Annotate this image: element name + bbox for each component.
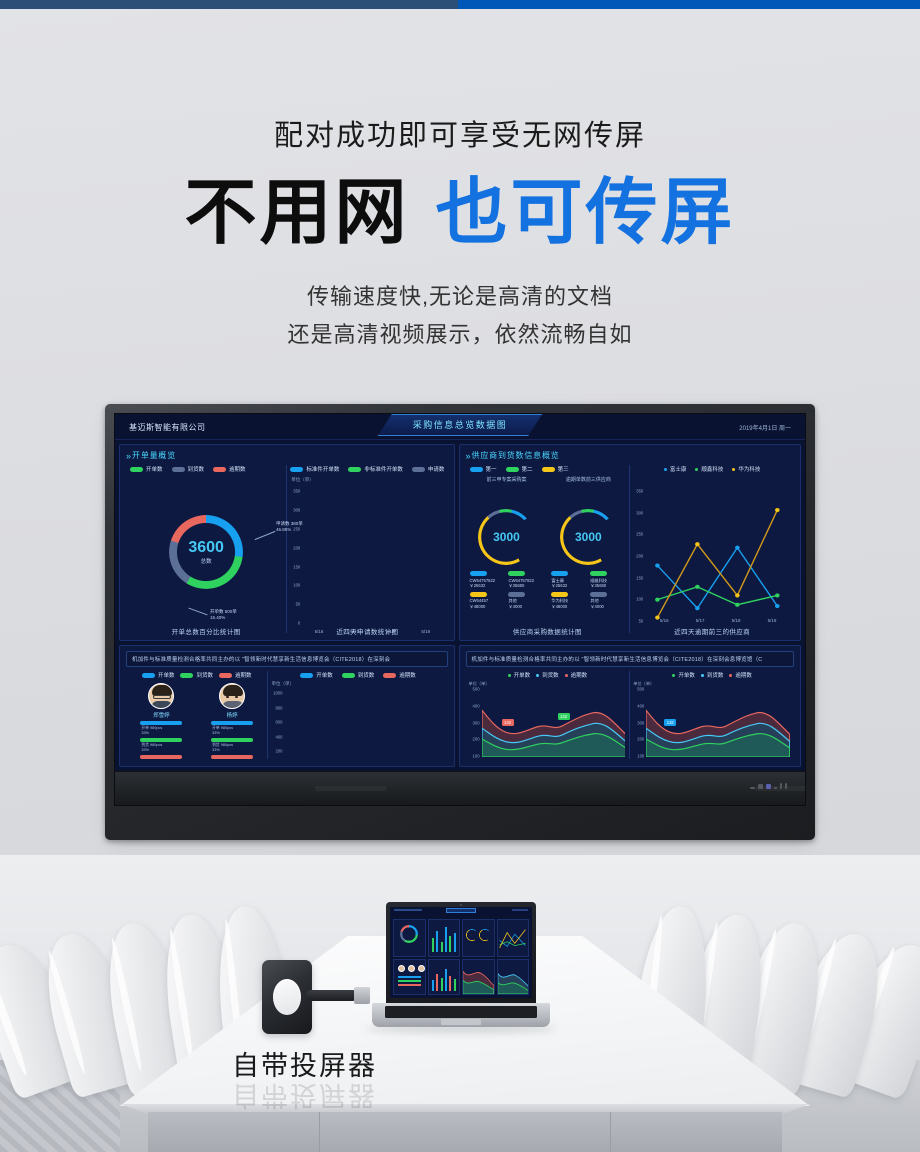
section-title-supplier: » 供应商到货数信息概览: [466, 450, 794, 461]
dongle-cable: [306, 990, 358, 1001]
y-axis-ticks: 1000800600 400200: [268, 693, 283, 759]
section-title-text: 供应商到货数信息概览: [472, 450, 560, 461]
legend-item: 到货数: [180, 671, 213, 679]
legend-item: 到货数: [172, 465, 205, 473]
chevron-right-icon: »: [466, 451, 468, 461]
legend-item: 第二: [506, 465, 533, 473]
legend-item: 到货数: [342, 671, 375, 679]
list-item: CW64757822￥35680: [508, 571, 543, 589]
legend-item: 逾期数: [729, 671, 752, 679]
avatar: [219, 683, 245, 709]
dashboard-date: 2019年4月1日 周一: [739, 423, 791, 432]
donut-callout-bottom: 开单数 500单 15.40%: [210, 609, 237, 621]
gauge-chart: 3000: [478, 509, 534, 565]
legend-item: 到货数: [701, 671, 724, 679]
gauge-chart: 3000: [560, 509, 616, 565]
area-annotation-tag: 132: [558, 713, 570, 720]
hero-headline: 不用网也可传屏: [0, 176, 920, 252]
legend-vendors: 富士康 顺鑫科技 华为科技: [630, 465, 794, 473]
hero-subtext: 传输速度快,无论是高清的文档 还是高清视频展示，依然流畅自如: [0, 278, 920, 355]
staff-split: 开单数 到货数 逾期数: [126, 667, 448, 763]
y-axis-ticks: 500400300 200100: [630, 689, 645, 759]
line-chart-area: 富士康 顺鑫科技 华为科技 350300250 200150100 50: [630, 461, 794, 637]
list-item: CW64757822￥25632: [470, 571, 505, 589]
legend-item: 开单数: [300, 671, 333, 679]
dongle-body: [262, 960, 312, 1034]
callout-leader-line: [255, 531, 276, 540]
list-item: 其他￥4000: [590, 592, 625, 610]
legend-stacked: 开单数 到货数 逾期数: [268, 671, 447, 679]
apply-chart-caption: 近四天申请数统计图: [287, 626, 447, 636]
section-title-text: 开单量概览: [132, 450, 176, 461]
dongle-caption-reflection: 自带投屏器: [232, 1078, 377, 1117]
y-axis-unit: 单位（单）: [291, 477, 314, 483]
area-plot: [482, 697, 626, 757]
avatar: [148, 683, 174, 709]
dashboard-left-column: » 开单量概览 开单数 到货数 逾期数: [119, 444, 455, 767]
legend-item: 非标准件开单数: [348, 465, 403, 473]
legend-item: 逾期数: [213, 465, 246, 473]
bar-group: [347, 491, 363, 623]
staff-metrics: 开单 980pcs33% 到货 980pcs33%: [140, 721, 182, 759]
dashboard-body: » 开单量概览 开单数 到货数 逾期数: [115, 440, 805, 771]
gauge-value: 3000: [478, 509, 534, 565]
dashboard: 基迈斯智能有限公司 采购信息总览数据图 2019年4月1日 周一 » 开单量概览: [115, 414, 805, 805]
legend-item: 申请数: [412, 465, 445, 473]
ticker-right: 机加件与标准质量检测合格率共同主办的以 "智领新时代慧享新生活信息博览会（CIT…: [466, 651, 794, 667]
laptop-lid: [386, 902, 536, 1005]
legend-item: 开单数: [672, 671, 695, 679]
legend-item: 到货数: [536, 671, 559, 679]
stacked-plot-area: [284, 693, 443, 759]
laptop-screen: [390, 907, 532, 998]
panel-supplier-overview: » 供应商到货数信息概览 第一 第二 第三: [459, 444, 801, 641]
hero-kicker: 配对成功即可享受无网传屏: [0, 112, 920, 154]
legend-order: 开单数 到货数 逾期数: [130, 465, 286, 473]
gauge-heading: 逾期单数前三供应商: [547, 476, 629, 483]
area-annotation-tag: 132: [502, 719, 514, 726]
laptop: [372, 902, 550, 1037]
legend-item: 开单数: [130, 465, 163, 473]
legend-staff: 开单数 到货数 逾期数: [126, 671, 267, 679]
x-axis-ticks: 5/165/17 5/185/19: [646, 618, 790, 623]
hero-subtext-line1: 传输速度快,无论是高清的文档: [0, 278, 920, 317]
y-axis-ticks: 350300250 200150100 500: [287, 491, 301, 623]
panel-order-overview: » 开单量概览 开单数 到货数 逾期数: [119, 444, 455, 641]
legend-item: 第一: [470, 465, 497, 473]
screen-casting-dongle[interactable]: [262, 956, 374, 1038]
stacked-bar-chart-area: 开单数 到货数 逾期数 单位（单） 1000800600 400200: [268, 667, 447, 763]
bar-group: [311, 491, 327, 623]
legend-item: 逾期数: [565, 671, 588, 679]
gauges-area: 第一 第二 第三 前三甲专案采购案: [466, 461, 630, 637]
port-indicators: [750, 783, 787, 789]
legend-item: 华为科技: [732, 465, 760, 473]
dashboard-brand: 基迈斯智能有限公司: [129, 422, 206, 433]
bar-group: [382, 491, 398, 623]
bar-group: [418, 491, 434, 623]
legend-area-1: 开单数 到货数 逾期数: [466, 671, 630, 679]
gauge-caption: 供应商采购数据统计图: [466, 626, 630, 636]
legend-item: 开单数: [508, 671, 531, 679]
dashboard-title: 采购信息总览数据图: [378, 414, 543, 436]
area-chart-area-1: 开单数 到货数 逾期数 单位（单） 500400300 200100: [466, 667, 630, 763]
panel-staff-performance: 机加件与标准质量检测合格率共同主办的以 "智领新时代慧享新生活信息博览会（CIT…: [119, 645, 455, 767]
callout-leader-line: [188, 608, 207, 616]
y-axis-ticks: 350300250 200150100 50: [630, 491, 644, 621]
display-chin: [115, 771, 805, 805]
staff-name: 郑雪婷: [140, 711, 182, 719]
supplier-split: 第一 第二 第三 前三甲专案采购案: [466, 461, 794, 637]
list-item: 华为科技￥48000: [551, 592, 586, 610]
list-item: 富士康￥25632: [551, 571, 586, 589]
y-axis-ticks: 500400300 200100: [466, 689, 481, 759]
order-overview-split: 开单数 到货数 逾期数 3600 总数: [126, 461, 448, 637]
bar-plot-area: [301, 491, 443, 623]
line-chart-caption: 近四天逾期前三的供应商: [630, 626, 794, 636]
legend-item: 顺鑫科技: [695, 465, 723, 473]
staff-list: 郑雪婷 开单 980pcs33% 到货 980pcs33%: [126, 683, 267, 759]
area-plot: [646, 697, 790, 757]
staff-name: 杨婷: [211, 711, 253, 719]
display-screen: 基迈斯智能有限公司 采购信息总览数据图 2019年4月1日 周一 » 开单量概览: [114, 413, 806, 806]
gauge-value: 3000: [560, 509, 616, 565]
donut-chart-area: 开单数 到货数 逾期数 3600 总数: [126, 461, 286, 637]
legend-item: 标准件开单数: [290, 465, 339, 473]
legend-item: 富士康: [664, 465, 687, 473]
bar-series: [301, 491, 443, 623]
hero-section: 配对成功即可享受无网传屏 不用网也可传屏 传输速度快,无论是高清的文档 还是高清…: [0, 0, 920, 355]
gauge-heading: 前三甲专案采购案: [466, 476, 548, 483]
staff-metrics: 开单 980pcs33% 到货 980pcs33%: [211, 721, 253, 759]
hero-headline-blue: 也可传屏: [436, 173, 736, 253]
legend-item: 第三: [542, 465, 569, 473]
area-chart-area-2: 开单数 到货数 逾期数 单位（单） 500400300 200100: [630, 667, 794, 763]
donut-total-value: 3600: [188, 540, 224, 556]
dashboard-right-column: » 供应商到货数信息概览 第一 第二 第三: [459, 444, 801, 767]
speaker-grille-left: [315, 786, 387, 791]
dongle-usb-plug: [354, 987, 370, 1004]
chevron-right-icon: »: [126, 451, 128, 461]
trackpad[interactable]: [441, 1019, 481, 1025]
dongle-button[interactable]: [273, 979, 301, 1015]
hero-headline-black: 不用网: [184, 173, 409, 253]
donut-total-label: 总数: [201, 557, 212, 565]
legend-item: 逾期数: [219, 671, 252, 679]
legend-apply: 标准件开单数 非标准件开单数 申请数: [287, 465, 447, 473]
gauge-legend: 富士康￥25632 顺维科技￥35680 华为科技￥48000 其他￥4000: [551, 571, 625, 610]
legend-item: 逾期数: [383, 671, 416, 679]
hero-subtext-line2: 还是高清视频展示，依然流畅自如: [0, 316, 920, 355]
list-item[interactable]: 郑雪婷 开单 980pcs33% 到货 980pcs33%: [140, 683, 182, 759]
donut-chart: 3600 总数: [169, 515, 243, 589]
y-axis-unit: 单位（单）: [271, 681, 294, 687]
stacked-series: [284, 693, 443, 759]
table-base: [148, 1112, 783, 1152]
donut-caption: 开单总数百分比统计图: [126, 626, 286, 636]
staff-avatars-area: 开单数 到货数 逾期数: [126, 667, 267, 763]
line-plot: [646, 493, 789, 621]
area-annotation-tag: 132: [664, 719, 676, 726]
laptop-base: [372, 1003, 550, 1027]
apply-bar-chart-area: 标准件开单数 非标准件开单数 申请数 单位（单） 350300250 20015…: [287, 461, 447, 637]
display-bezel: 基迈斯智能有限公司 采购信息总览数据图 2019年4月1日 周一 » 开单量概览: [105, 404, 815, 840]
list-item[interactable]: 杨婷 开单 980pcs33% 到货 980pcs33%: [211, 683, 253, 759]
section-title-order-overview: » 开单量概览: [126, 450, 448, 461]
legend-area-2: 开单数 到货数 逾期数: [630, 671, 794, 679]
interactive-display-device: 基迈斯智能有限公司 采购信息总览数据图 2019年4月1日 周一 » 开单量概览: [105, 404, 815, 840]
list-item: CW64457￥48000: [470, 592, 505, 610]
legend-item: 开单数: [142, 671, 175, 679]
keyboard[interactable]: [385, 1006, 537, 1018]
dashboard-header: 基迈斯智能有限公司 采购信息总览数据图 2019年4月1日 周一: [115, 414, 805, 440]
legend-supplier: 第一 第二 第三: [470, 465, 630, 473]
list-item: 其他￥4000: [508, 592, 543, 610]
webcam-icon: [460, 904, 462, 906]
panel-trend-area: 机加件与标准质量检测合格率共同主办的以 "智领新时代慧享新生活信息博览会（CIT…: [459, 645, 801, 767]
list-item: 顺维科技￥35680: [590, 571, 625, 589]
gauge-card: 前三甲专案采购案 3000 CW64757822￥25632 CW6: [466, 475, 548, 625]
donut-center: 3600 总数: [169, 515, 243, 589]
ticker-left: 机加件与标准质量检测合格率共同主办的以 "智领新时代慧享新生活信息博览会（CIT…: [126, 651, 448, 667]
gauge-legend: CW64757822￥25632 CW64757822￥35680 CW6445…: [470, 571, 544, 610]
gauge-card: 逾期单数前三供应商 3000 富士康￥25632 顺维科技￥3568: [547, 475, 629, 625]
trend-split: 开单数 到货数 逾期数 单位（单） 500400300 200100: [466, 667, 794, 763]
gauge-row: 前三甲专案采购案 3000 CW64757822￥25632 CW6: [466, 475, 630, 625]
